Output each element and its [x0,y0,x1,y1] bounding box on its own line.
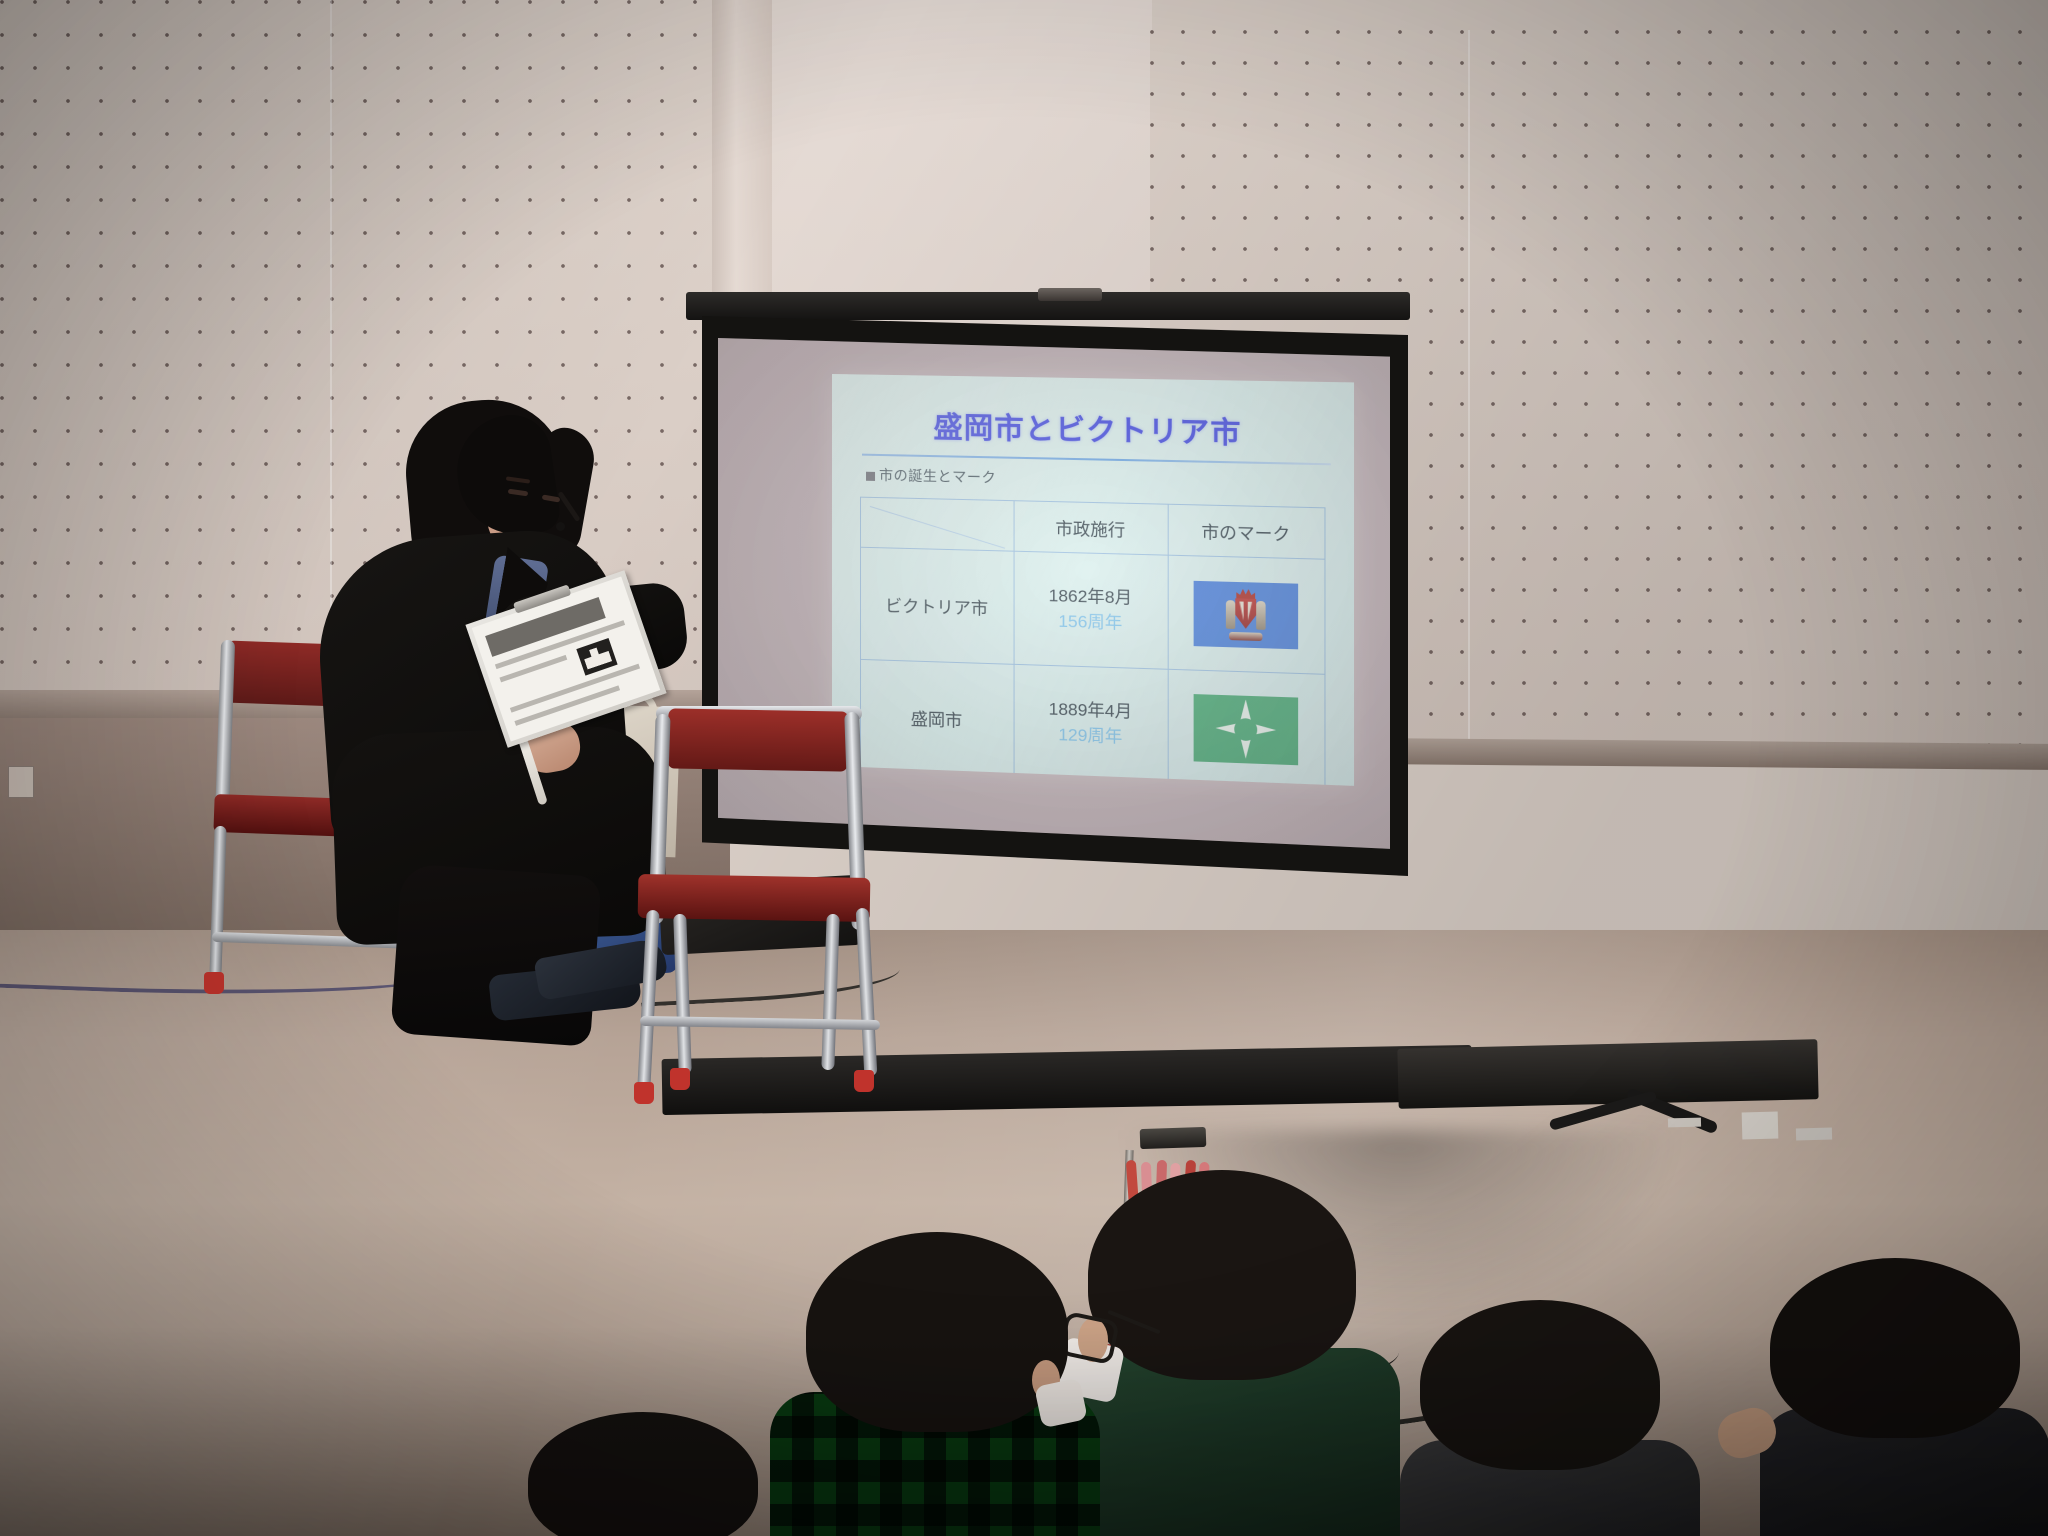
chair-right-foot-cap-2 [854,1070,874,1092]
chair-left-leg-1 [209,826,226,976]
chair-right-crossbar [640,1016,880,1030]
chair-right-leg-3 [673,914,692,1074]
chair-right[interactable] [572,700,892,1120]
child-hair [1420,1300,1660,1470]
child-hair [1088,1170,1356,1380]
chair-right-leg-4 [821,914,839,1070]
child-hair [528,1412,758,1536]
child-hair [1770,1258,2020,1438]
chair-left-foot-cap-1 [204,972,224,994]
audience-child-grey [1400,1300,1700,1536]
screen-label-spec [1742,1112,1779,1140]
chair-right-foot-cap-1 [634,1082,654,1104]
chair-left-frame-rail [215,640,235,820]
document-figure [576,638,617,676]
chair-right-leg-1 [637,910,659,1088]
classroom-presentation-scene: 盛岡市とビクトリア市 市の誕生とマーク 市政施行 市のマーク ビクトリア市 18… [0,0,2048,1536]
microphone-tip [556,522,565,531]
chair-right-foot-cap-3 [670,1068,690,1090]
screen-label-barcode [1668,1118,1701,1128]
audience-child-dark-green [1060,1170,1400,1536]
panel-seam-right [1468,30,1470,750]
floor-device [1140,1127,1207,1149]
screen-base-case [1397,1039,1818,1109]
chair-right-backrest [667,708,848,771]
screen-case-knob [1038,288,1102,301]
audience-child-front-left [528,1412,758,1536]
screen-label-warning [1796,1128,1832,1141]
wall-outlet [8,766,34,798]
chair-right-leg-2 [856,908,878,1076]
audience-child-right-edge [1760,1258,2048,1536]
child-hair [806,1232,1068,1432]
audience-child-green-plaid [770,1232,1100,1536]
